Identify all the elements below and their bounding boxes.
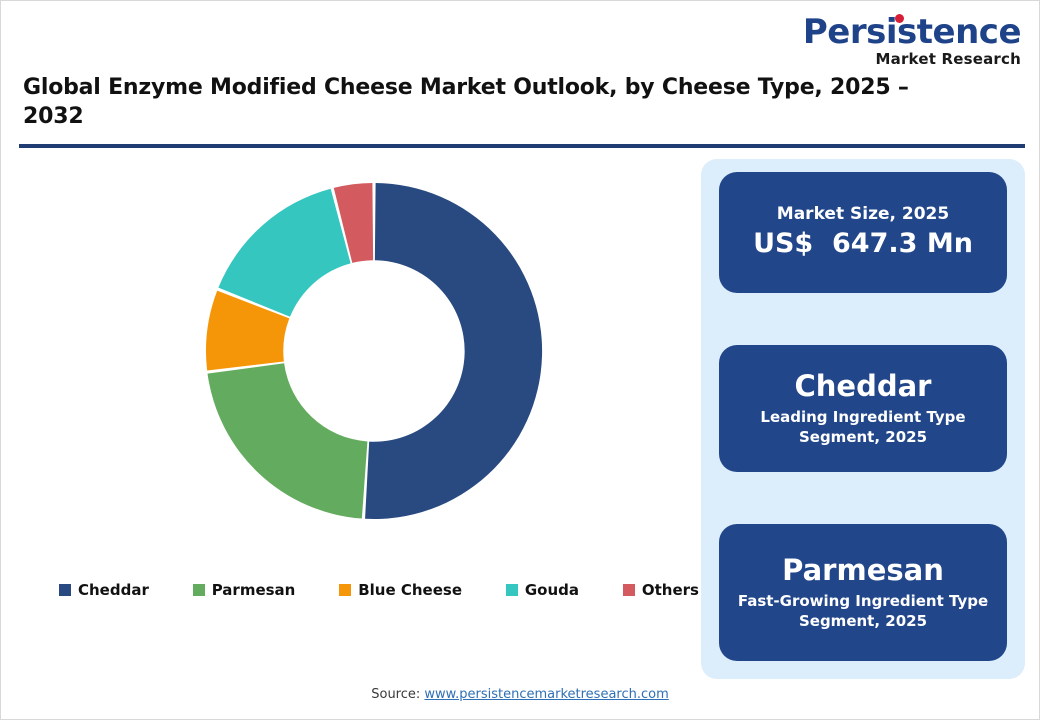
legend-swatch-icon bbox=[339, 584, 351, 596]
brand-logo: Persistence Market Research bbox=[803, 15, 1021, 67]
chart-legend: Cheddar Parmesan Blue Cheese Gouda Other… bbox=[59, 581, 699, 599]
brand-logo-wordmark: Persistence bbox=[803, 15, 1021, 49]
market-size-label: Market Size, 2025 bbox=[777, 204, 949, 225]
leading-segment-card: Cheddar Leading Ingredient Type Segment,… bbox=[719, 345, 1007, 472]
donut-slice[interactable] bbox=[208, 363, 368, 518]
legend-item[interactable]: Gouda bbox=[506, 581, 579, 599]
leading-segment-name: Cheddar bbox=[795, 370, 932, 403]
brand-logo-tagline: Market Research bbox=[803, 52, 1021, 67]
chart-area: Cheddar Parmesan Blue Cheese Gouda Other… bbox=[19, 156, 691, 656]
market-size-card: Market Size, 2025 US$ 647.3 Mn bbox=[719, 172, 1007, 293]
legend-swatch-icon bbox=[506, 584, 518, 596]
brand-logo-name: Persistence bbox=[803, 12, 1021, 52]
brand-logo-dot-icon bbox=[895, 14, 904, 23]
highlights-panel: Market Size, 2025 US$ 647.3 Mn Cheddar L… bbox=[701, 159, 1025, 679]
legend-item-label: Blue Cheese bbox=[358, 581, 462, 599]
leading-segment-description: Leading Ingredient Type Segment, 2025 bbox=[719, 407, 1007, 448]
fast-growing-segment-description: Fast-Growing Ingredient Type Segment, 20… bbox=[719, 591, 1007, 632]
donut-chart-svg bbox=[204, 181, 544, 521]
legend-item[interactable]: Parmesan bbox=[193, 581, 296, 599]
fast-growing-segment-card: Parmesan Fast-Growing Ingredient Type Se… bbox=[719, 524, 1007, 661]
title-divider bbox=[19, 144, 1025, 148]
legend-item[interactable]: Cheddar bbox=[59, 581, 149, 599]
source-link[interactable]: www.persistencemarketresearch.com bbox=[424, 687, 668, 702]
donut-chart bbox=[204, 181, 544, 521]
source-line: Source: www.persistencemarketresearch.co… bbox=[1, 687, 1039, 702]
legend-item[interactable]: Blue Cheese bbox=[339, 581, 462, 599]
infographic-slide: Persistence Market Research Global Enzym… bbox=[0, 0, 1040, 720]
legend-item[interactable]: Others bbox=[623, 581, 699, 599]
source-label: Source: bbox=[371, 687, 424, 702]
fast-growing-segment-name: Parmesan bbox=[782, 554, 944, 587]
donut-slice[interactable] bbox=[218, 189, 350, 317]
legend-item-label: Cheddar bbox=[78, 581, 149, 599]
donut-slice-group bbox=[206, 183, 542, 519]
legend-swatch-icon bbox=[623, 584, 635, 596]
donut-slice[interactable] bbox=[365, 183, 542, 519]
legend-item-label: Others bbox=[642, 581, 699, 599]
market-size-value: US$ 647.3 Mn bbox=[753, 227, 973, 261]
page-title: Global Enzyme Modified Cheese Market Out… bbox=[23, 73, 923, 131]
legend-swatch-icon bbox=[59, 584, 71, 596]
legend-item-label: Parmesan bbox=[212, 581, 296, 599]
legend-swatch-icon bbox=[193, 584, 205, 596]
legend-item-label: Gouda bbox=[525, 581, 579, 599]
